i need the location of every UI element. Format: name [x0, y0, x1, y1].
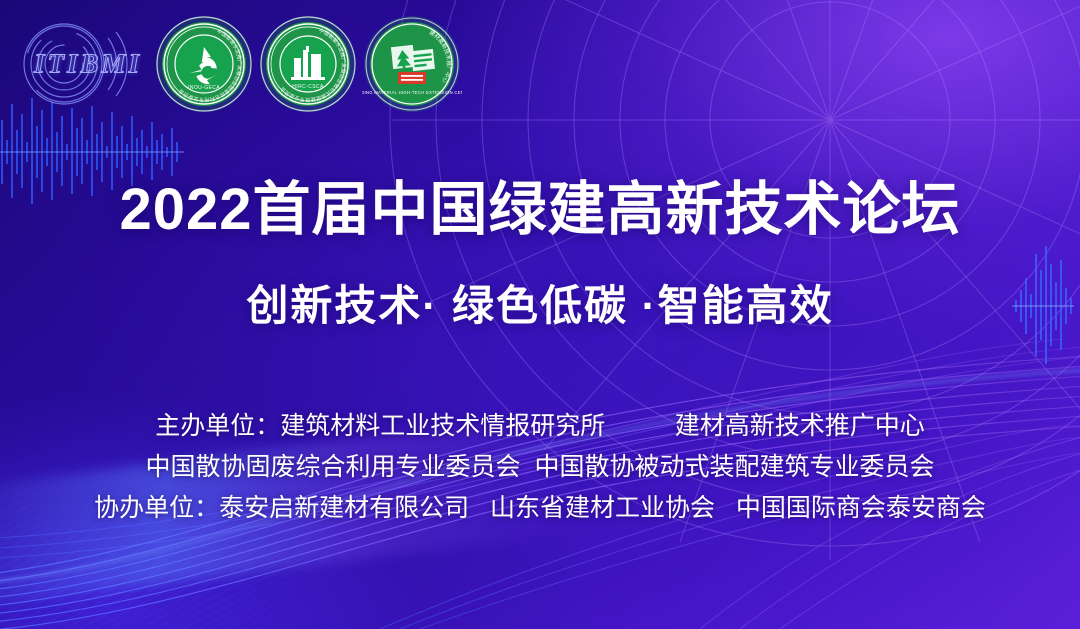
seal-logo-building: HIRC-CSCA 中国散装水泥推广发展协会被动式装配建筑专业委员会 — [258, 14, 358, 114]
organizer-line: 主办单位：建筑材料工业技术情报研究所 建材高新技术推广中心 — [0, 406, 1080, 447]
itibmi-logo: ITIBMI — [22, 18, 150, 110]
event-poster: ITIBMI INOU-GECA — [0, 0, 1080, 629]
seal-logo-hitech: 建材高新技术推广中心 BUILDING MATERIAL HIGH-TECH E… — [362, 14, 462, 114]
logo-row: ITIBMI INOU-GECA — [22, 10, 462, 118]
seal-logo-recycling: INOU-GECA 中国散装水泥推广发展协会固废综合利用专业委员会 — [154, 14, 254, 114]
poster-subtitle: 创新技术· 绿色低碳 ·智能高效 — [0, 272, 1080, 333]
seal3-abbr-text: BUILDING MATERIAL HIGH-TECH EXTENSION CE… — [362, 90, 462, 95]
organizer-line: 中国散协固废综合利用专业委员会 中国散协被动式装配建筑专业委员会 — [0, 447, 1080, 488]
organizer-line: 协办单位：泰安启新建材有限公司 山东省建材工业协会 中国国际商会泰安商会 — [0, 488, 1080, 529]
seal1-abbr-text: INOU-GECA — [188, 85, 220, 91]
itibmi-wordmark: ITIBMI — [34, 49, 142, 80]
seal2-abbr-text: HIRC-CSCA — [292, 84, 324, 90]
organizers-block: 主办单位：建筑材料工业技术情报研究所 建材高新技术推广中心 中国散协固废综合利用… — [0, 406, 1080, 529]
page-title: 2022首届中国绿建高新技术论坛 — [0, 162, 1080, 246]
